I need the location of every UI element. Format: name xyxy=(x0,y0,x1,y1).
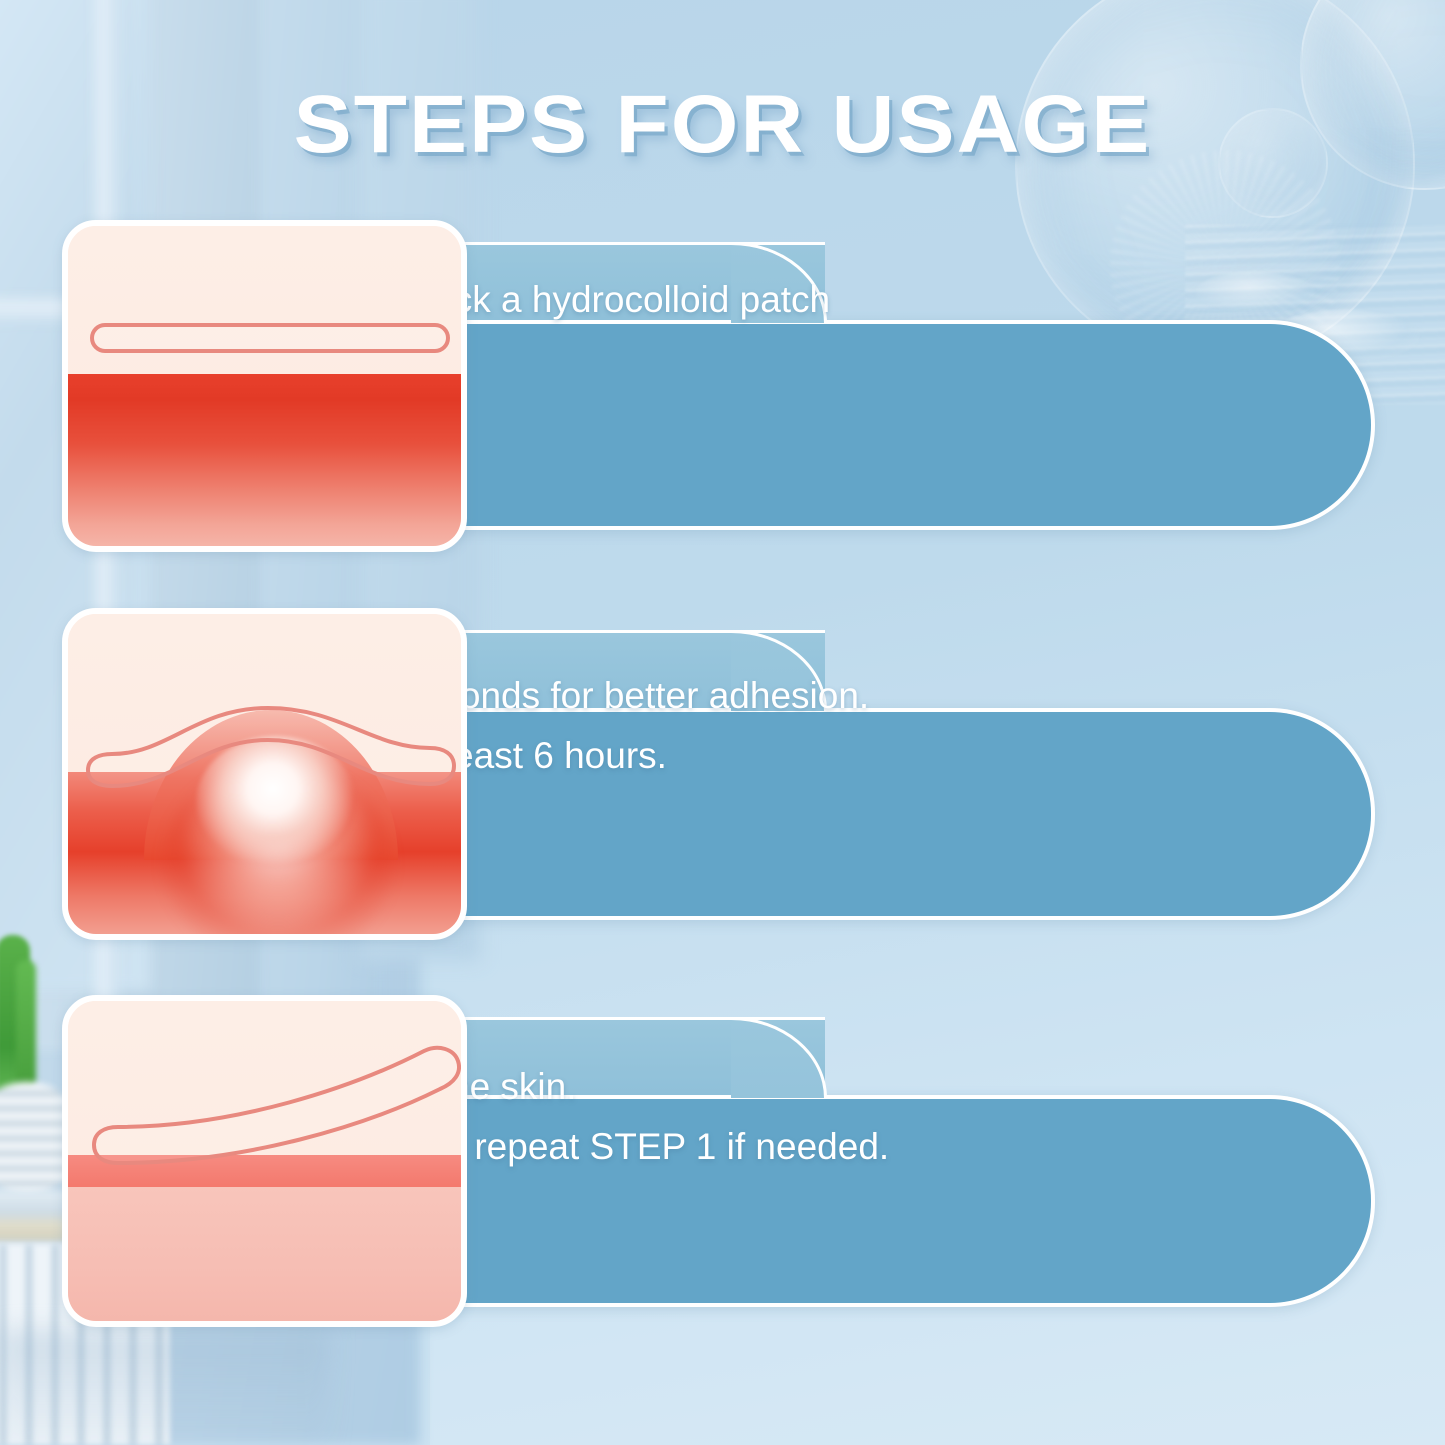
skin-layer-inflamed xyxy=(68,374,461,546)
hydrocolloid-patch-icon xyxy=(90,323,450,353)
page-title: STEPS FOR USAGE xyxy=(0,78,1445,172)
water-droplet-icon-back xyxy=(1195,272,1315,312)
skin-layer-healed xyxy=(68,1187,461,1321)
hydrocolloid-patch-icon xyxy=(86,1029,461,1184)
step-1-illustration xyxy=(62,220,467,552)
hydrocolloid-patch-icon xyxy=(78,674,461,794)
step-2-illustration xyxy=(62,608,467,940)
plant-leaf-icon xyxy=(16,960,36,1090)
floor-shadow xyxy=(0,1330,330,1445)
step-3-illustration xyxy=(62,995,467,1327)
